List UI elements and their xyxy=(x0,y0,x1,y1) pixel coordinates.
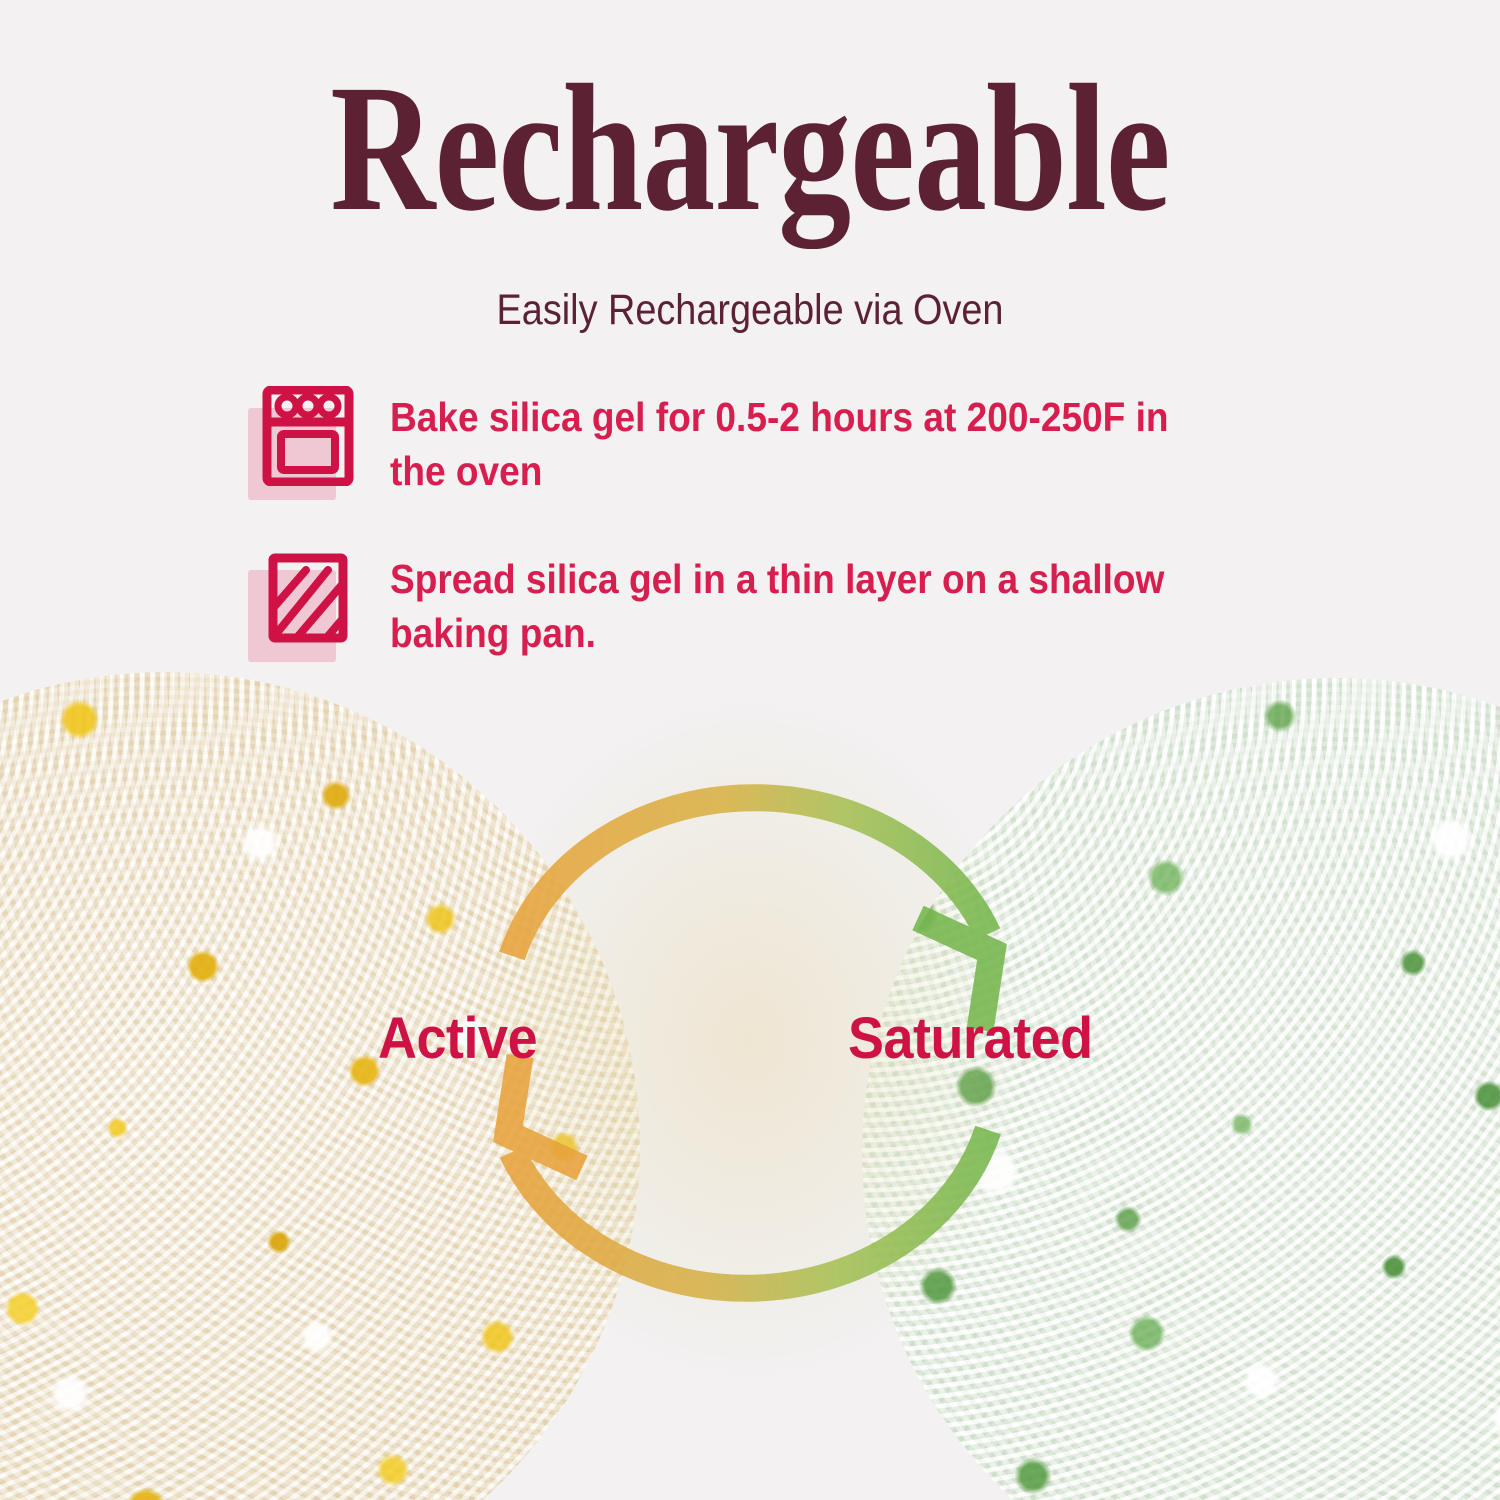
arrow-saturated-to-active xyxy=(508,1056,988,1288)
list-item-label: Spread silica gel in a thin layer on a s… xyxy=(390,548,1212,661)
instruction-list: Bake silica gel for 0.5-2 hours at 200-2… xyxy=(248,386,1288,710)
infographic-canvas: Rechargeable Easily Rechargeable via Ove… xyxy=(0,0,1500,1500)
state-label-active: Active xyxy=(378,1005,537,1072)
baking-pan-icon-glyph xyxy=(262,548,354,648)
arrow-active-to-saturated xyxy=(512,798,992,1030)
oven-icon xyxy=(248,386,352,504)
page-title: Rechargeable xyxy=(150,58,1350,240)
list-item: Bake silica gel for 0.5-2 hours at 200-2… xyxy=(248,386,1288,504)
baking-pan-icon xyxy=(248,548,352,666)
list-item-label: Bake silica gel for 0.5-2 hours at 200-2… xyxy=(390,386,1212,499)
page-subtitle: Easily Rechargeable via Oven xyxy=(90,286,1410,335)
list-item: Spread silica gel in a thin layer on a s… xyxy=(248,548,1288,666)
oven-icon-glyph xyxy=(262,386,354,486)
state-label-saturated: Saturated xyxy=(848,1005,1093,1072)
